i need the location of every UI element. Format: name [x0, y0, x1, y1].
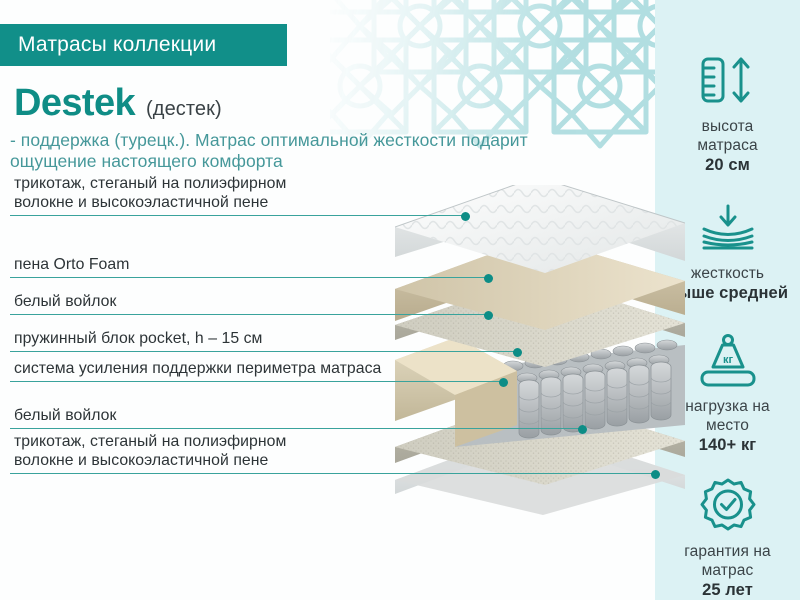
layer-callout-line	[10, 381, 503, 382]
collection-title-bar: Матрасы коллекции	[0, 24, 287, 66]
spec-load-value: 140+ кг	[685, 436, 769, 455]
spec-height: высота матраса 20 см	[655, 52, 800, 175]
layer-callout-label: белый войлок	[14, 406, 116, 425]
spec-firmness-value: выше средней	[667, 284, 788, 303]
spec-firmness-name: жесткость	[691, 265, 764, 282]
brand-translit: (дестек)	[146, 98, 222, 121]
layer-callout-dot	[461, 212, 470, 221]
layer-callout: белый войлок	[0, 385, 680, 429]
spec-height-value: 20 см	[697, 156, 757, 175]
spec-warranty-name2: матрас	[702, 562, 754, 579]
ruler-height-icon	[697, 52, 759, 108]
spec-firmness-text: жесткость выше средней	[667, 264, 788, 303]
layer-callout-line	[10, 428, 582, 429]
layer-callout: система усиления поддержки периметра мат…	[0, 338, 680, 382]
layer-callout-line	[10, 215, 465, 216]
layer-callout: трикотаж, стеганый на полиэфирном волокн…	[0, 172, 680, 216]
weight-load-icon: кг	[692, 332, 764, 388]
spec-warranty-name: гарантия на	[684, 543, 770, 560]
spec-load-text: нагрузка на место 140+ кг	[685, 397, 769, 455]
layer-callout-dot	[651, 470, 660, 479]
layer-callout-label: система усиления поддержки периметра мат…	[14, 359, 381, 378]
layer-callout-line	[10, 473, 655, 474]
spec-warranty-value: 25 лет	[684, 581, 770, 600]
layer-callout-label: трикотаж, стеганый на полиэфирном волокн…	[14, 174, 286, 212]
spec-load-name2: место	[706, 417, 749, 434]
brand-block: Destek (дестек)	[14, 82, 222, 125]
warranty-badge-icon	[698, 477, 758, 533]
spec-height-text: высота матраса 20 см	[697, 117, 757, 175]
promo-banner: высота матраса 20 см	[0, 0, 800, 600]
spec-warranty-text: гарантия на матрас 25 лет	[684, 542, 770, 600]
lead-description: - поддержка (турецк.). Матрас оптимально…	[10, 130, 570, 172]
layer-callout-label: трикотаж, стеганый на полиэфирном волокн…	[14, 432, 286, 470]
spec-height-name2: матраса	[697, 137, 757, 154]
spec-height-name: высота	[702, 118, 754, 135]
spec-load-name: нагрузка на	[685, 398, 769, 415]
collection-title-label: Матрасы коллекции	[18, 33, 216, 57]
layer-callout: трикотаж, стеганый на полиэфирном волокн…	[0, 430, 680, 474]
firmness-waves-icon	[697, 199, 759, 255]
weight-icon-label: кг	[722, 354, 733, 366]
brand-name: Destek	[14, 82, 135, 125]
